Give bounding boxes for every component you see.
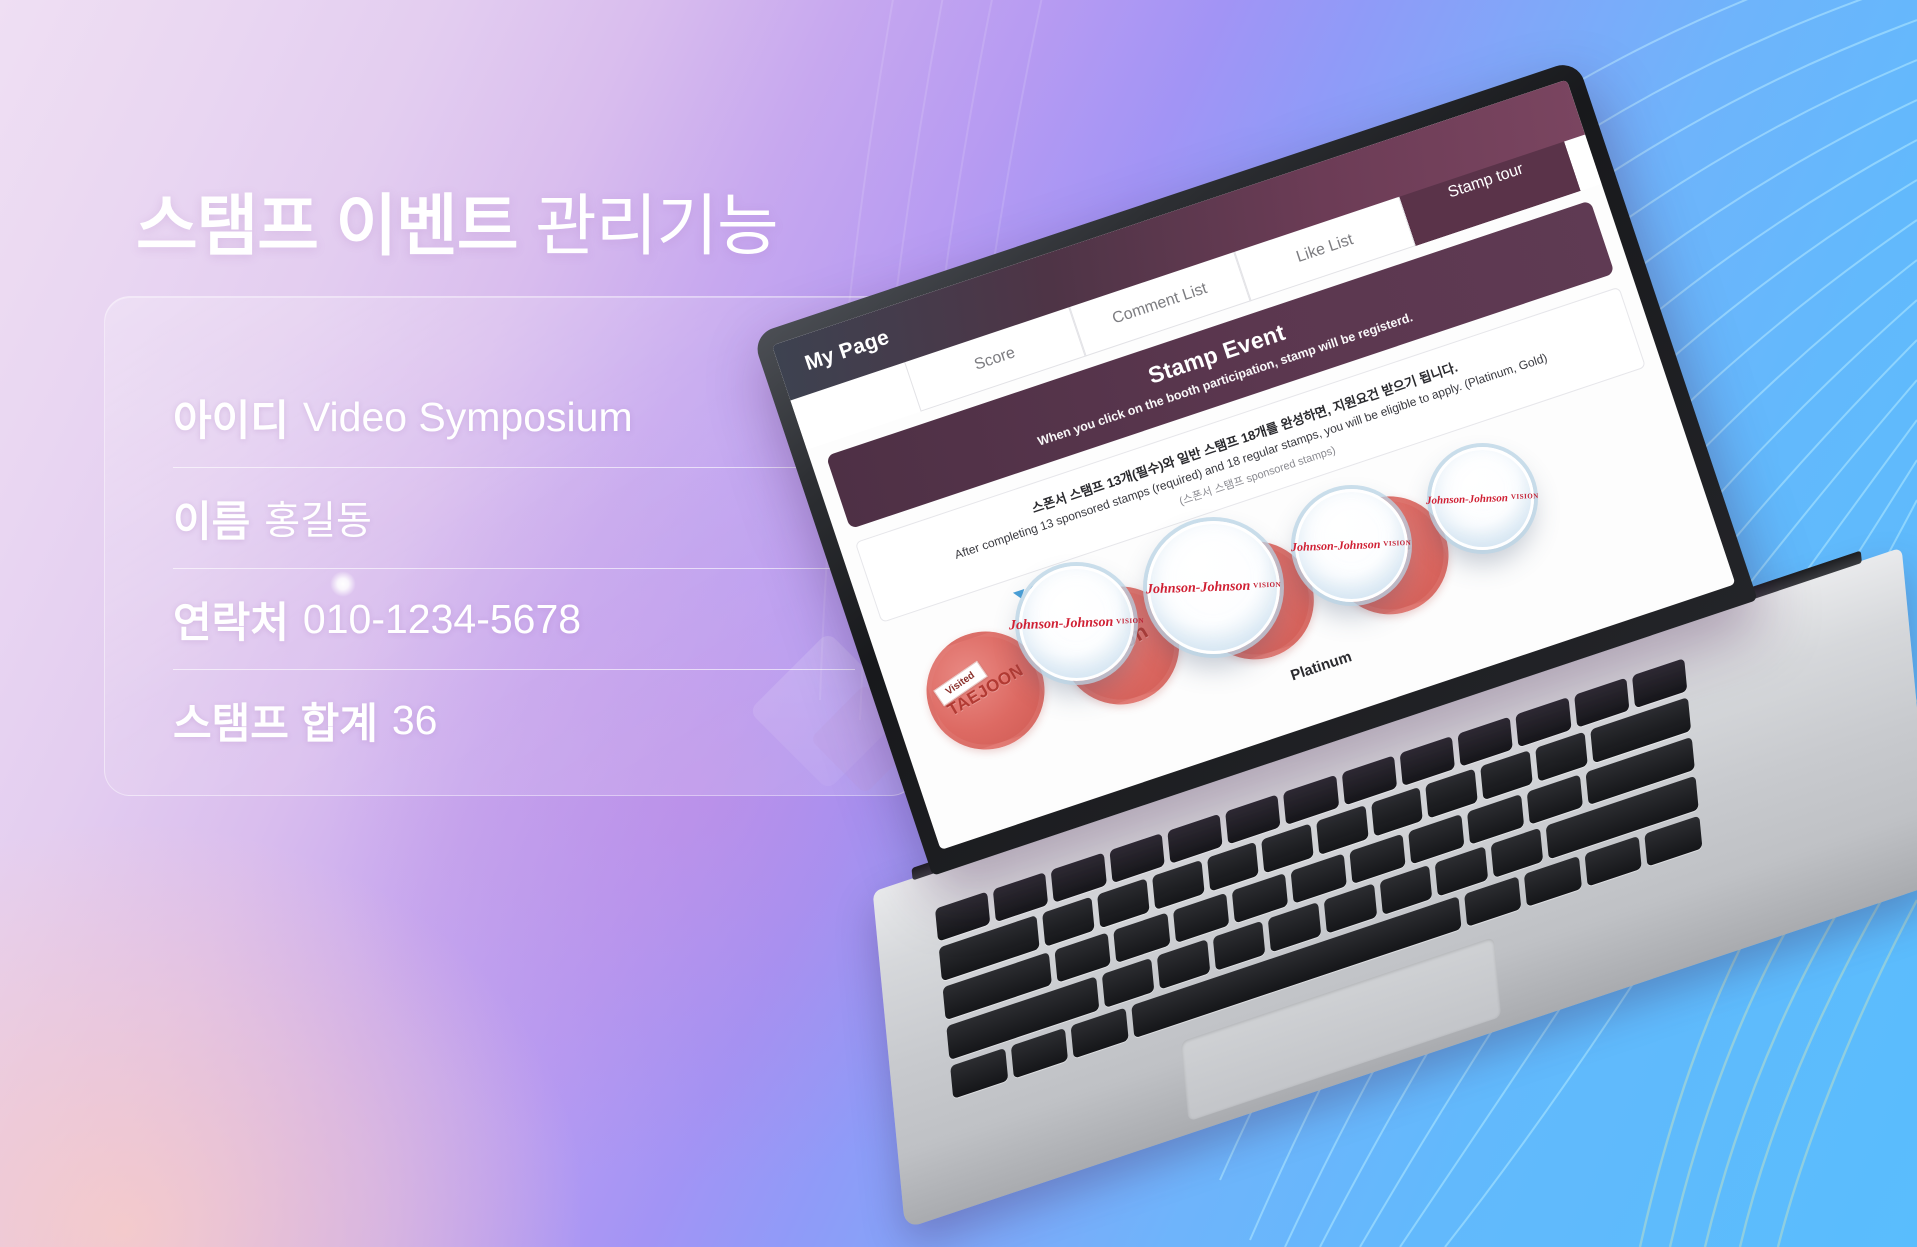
tab-like-list-label: Like List [1294, 231, 1355, 267]
page-title-light: 관리기능 [535, 189, 778, 264]
info-value-id: Video Symposium [303, 394, 633, 441]
info-value-stamp-total: 36 [392, 697, 438, 744]
info-value-phone: 010-1234-5678 [303, 596, 581, 643]
johnson-johnson-logo: Johnson-JohnsonVISION [1426, 491, 1539, 507]
info-label-id: 아이디 [173, 387, 289, 448]
johnson-johnson-logo: Johnson-JohnsonVISION [1291, 536, 1412, 555]
jj-vision-label: VISION [1253, 580, 1281, 589]
laptop-mockup: My Page Score Comment List Like List Sta… [673, 0, 1917, 1247]
stamp-bubble-2[interactable]: Johnson-JohnsonVISION [1147, 521, 1280, 654]
johnson-johnson-logo: Johnson-JohnsonVISION [1009, 613, 1145, 634]
info-row-stamp-total: 스탬프 합계 36 [173, 670, 855, 771]
tab-score-label: Score [972, 344, 1017, 374]
info-label-name: 이름 [173, 488, 250, 549]
stamp-bubble-1[interactable]: Johnson-JohnsonVISION [1019, 566, 1134, 681]
jj-vision-label: VISION [1511, 492, 1539, 501]
jj-wordmark: Johnson-Johnson [1146, 578, 1251, 597]
jj-wordmark: Johnson-Johnson [1291, 537, 1381, 554]
app-brand-label: My Page [802, 326, 892, 376]
jj-wordmark: Johnson-Johnson [1009, 614, 1114, 633]
stamp-bubble-3[interactable]: Johnson-JohnsonVISION [1295, 489, 1408, 602]
info-label-stamp-total: 스탬프 합계 [173, 690, 378, 751]
jj-vision-label: VISION [1116, 616, 1144, 625]
background-peach-glow [0, 827, 580, 1247]
johnson-johnson-logo: Johnson-JohnsonVISION [1146, 577, 1282, 598]
page-title-bold: 스탬프 이벤트 [136, 189, 517, 264]
info-label-phone: 연락처 [173, 589, 289, 650]
page-title: 스탬프 이벤트 관리기능 [136, 189, 778, 264]
jj-vision-label: VISION [1384, 539, 1412, 548]
stamp-bubble-4[interactable]: Johnson-JohnsonVISION [1431, 447, 1534, 550]
info-value-name: 홍길동 [264, 490, 372, 546]
poster-root: 스탬프 이벤트 관리기능 아이디 Video Symposium 이름 홍길동 … [0, 0, 1917, 1247]
jj-wordmark: Johnson-Johnson [1426, 492, 1508, 507]
info-row-phone: 연락처 010-1234-5678 [173, 569, 855, 670]
